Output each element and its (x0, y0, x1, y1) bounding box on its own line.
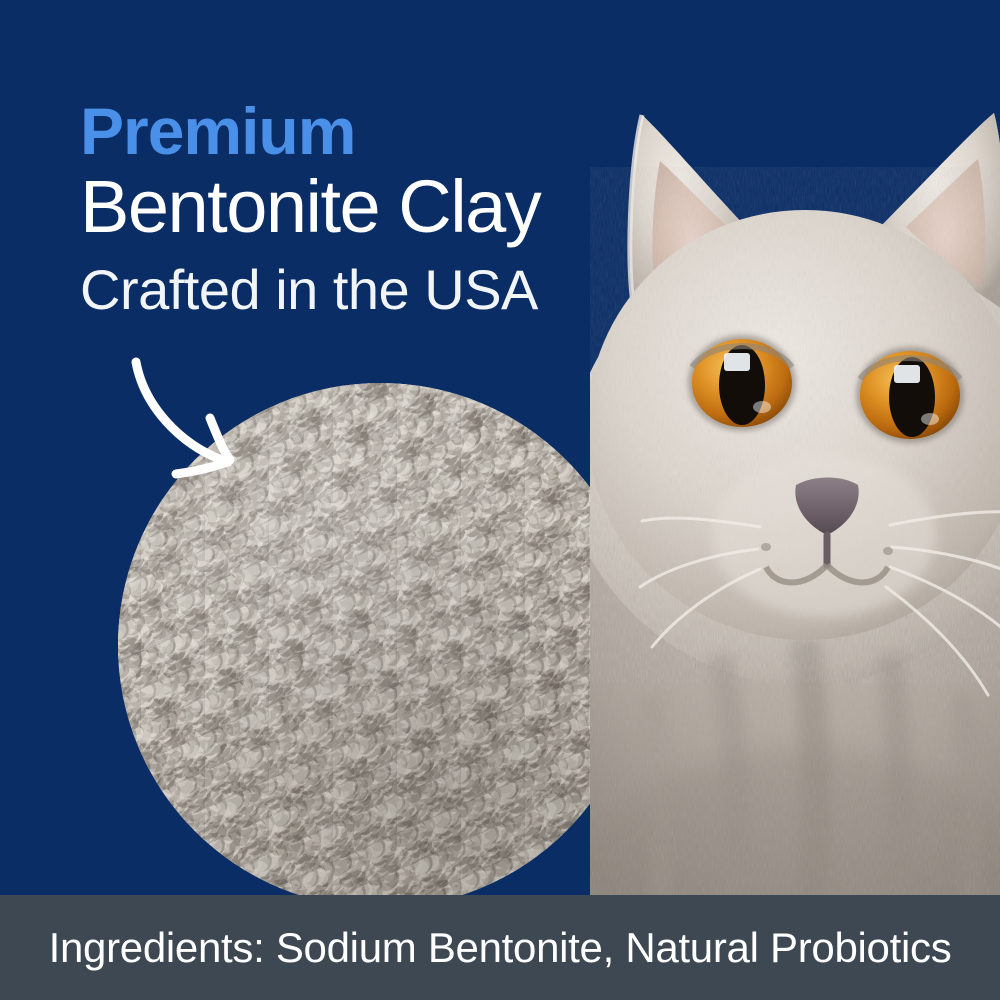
product-feature-image: Premium Bentonite Clay Crafted in the US… (0, 0, 1000, 1000)
hand-drawn-arrow (110, 340, 290, 480)
ingredients-caption-bar: Ingredients: Sodium Bentonite, Natural P… (0, 895, 1000, 1000)
headline-block: Premium Bentonite Clay Crafted in the US… (80, 98, 640, 318)
cat-eye-right (856, 347, 964, 443)
curved-arrow-icon (110, 340, 290, 480)
cat-illustration (590, 95, 1000, 900)
cat-photo (590, 95, 1000, 900)
ingredients-text: Ingredients: Sodium Bentonite, Natural P… (49, 924, 952, 972)
headline-tagline: Crafted in the USA (80, 262, 640, 318)
headline-product-line: Bentonite Clay (80, 170, 640, 244)
headline-accent-line: Premium (80, 98, 640, 164)
cat-eye-left (688, 335, 796, 431)
cat-muzzle (712, 453, 936, 617)
